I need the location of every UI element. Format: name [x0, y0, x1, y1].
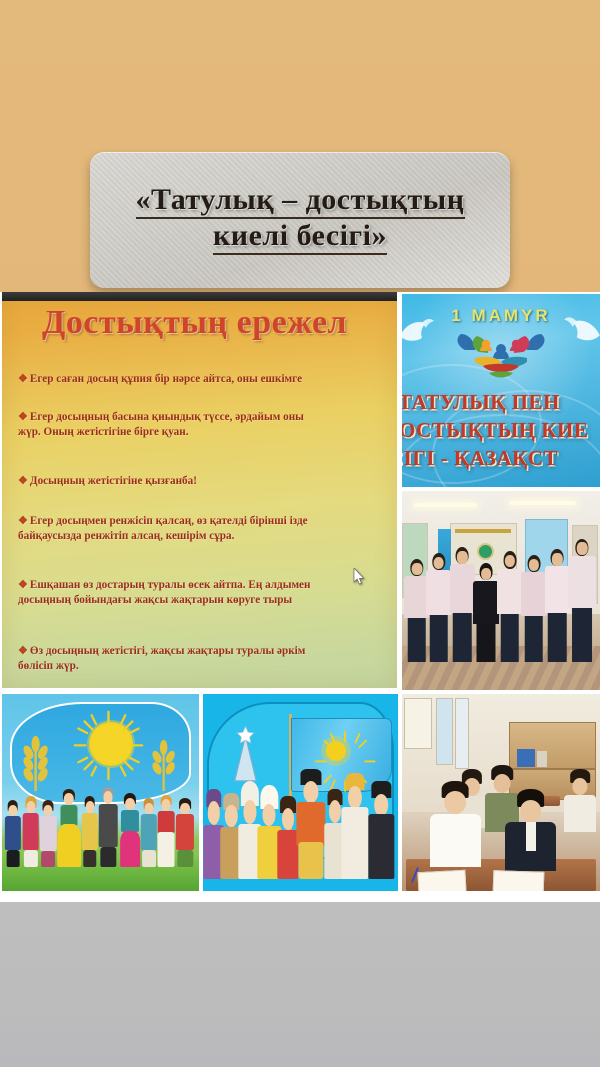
student-figure: [568, 539, 596, 662]
child-figure: [39, 800, 57, 867]
title-plaque: «Татулық – достықтың киелі бесігі»: [90, 152, 510, 288]
bullet-icon: ❖: [18, 579, 28, 591]
rule-text: Егер досыңның басына қиындық түссе, әрда…: [18, 411, 304, 438]
wall-poster: [455, 698, 469, 769]
student-figure: [497, 551, 523, 662]
bullet-icon: ❖: [18, 411, 28, 423]
rule-item: ❖Өз досыңның жетістігі, жақсы жақтары ту…: [18, 644, 397, 673]
student-figure: [564, 769, 596, 832]
person-figure: [277, 796, 298, 879]
notebook: [417, 870, 466, 891]
student-figure: [426, 553, 452, 662]
photo-collage: Достықтың ережел ❖Егер саған досың құпия…: [0, 292, 600, 895]
child-figure: [99, 787, 119, 868]
banner-line-1: ТАТУЛЫҚ ПЕН: [402, 390, 600, 415]
person-figure: [297, 769, 326, 879]
child-figure: [120, 793, 140, 868]
may-first-banner: 1 MAMYR ТАТУЛЫҚ ПЕН ДОСТЫҚТЫҢ КИЕ СІГІ -…: [402, 294, 600, 487]
stand-caption: [455, 529, 510, 533]
child-figure: [158, 795, 176, 868]
wall-poster: [436, 698, 454, 765]
banner-line-3: СІГІ - ҚАЗАҚСТ: [402, 446, 600, 471]
student-figure: [430, 781, 481, 868]
title-line-2: киелі бесігі»: [213, 220, 387, 252]
students-group-photo: [402, 491, 600, 690]
friendship-rules-poster: Достықтың ережел ❖Егер саған досың құпия…: [2, 292, 397, 688]
banner-line-2: ДОСТЫҚТЫҢ КИЕ: [402, 418, 600, 443]
child-figure: [4, 800, 22, 867]
ceiling-lamp: [414, 503, 477, 507]
title-text-secondary: киелі бесігі»: [213, 219, 387, 255]
mouse-pointer-icon: [353, 568, 365, 586]
ceiling-lamp: [509, 501, 576, 505]
bullet-icon: ❖: [18, 373, 28, 385]
rule-item: ❖Егер досыңмен ренжісіп қалсаң, өз қател…: [18, 514, 397, 543]
wall-poster: [404, 698, 432, 749]
title-line-1: «Татулық – достықтың: [136, 184, 465, 216]
rules-poster-title: Достықтың ережел: [42, 304, 347, 342]
binder: [517, 749, 535, 767]
child-figure: [140, 798, 158, 867]
bullet-icon: ❖: [18, 475, 28, 487]
rule-text: Ешқашан өз достарың туралы өсек айтпа. Е…: [18, 579, 310, 606]
sun-rays-icon: [73, 706, 144, 785]
banner-date-label: 1 MAMYR: [402, 306, 600, 326]
wheat-icon: [10, 729, 61, 796]
person-figure: [341, 773, 368, 879]
kids-nations-illustration: [2, 694, 199, 891]
notebook: [493, 870, 545, 891]
bullet-icon: ❖: [18, 515, 28, 527]
collage-bottom-edge: [0, 895, 600, 902]
child-figure: [57, 789, 81, 868]
student-figure: [505, 789, 556, 872]
nations-flag-illustration: [203, 694, 398, 891]
student-figure: [545, 549, 571, 662]
rule-item: ❖Егер саған досың құпия бір нәрсе айтса,…: [18, 372, 397, 387]
child-figure: [81, 796, 99, 867]
rule-text: Досыңның жетістігіне қызғанба!: [30, 475, 197, 487]
rule-text: Егер саған досың құпия бір нәрсе айтса, …: [30, 373, 302, 385]
unity-emblem-icon: [455, 332, 547, 384]
child-figure: [175, 798, 195, 867]
rule-item: ❖Досыңның жетістігіне қызғанба!: [18, 474, 397, 489]
box: [537, 751, 547, 767]
wheat-icon: [140, 733, 187, 796]
bottom-blank-panel: [0, 902, 600, 1067]
bullet-icon: ❖: [18, 645, 28, 657]
minaret-icon: [226, 726, 265, 785]
person-figure: [369, 781, 394, 880]
classroom-photo: [402, 694, 600, 891]
emblem-icon: [477, 543, 494, 560]
rule-text: Өз досыңның жетістігі, жақсы жақтары тур…: [18, 645, 305, 672]
rule-text: Егер досыңмен ренжісіп қалсаң, өз қателд…: [18, 515, 308, 542]
teacher-figure: [473, 563, 499, 663]
child-figure: [22, 796, 40, 867]
student-figure: [521, 555, 547, 662]
rule-item: ❖Ешқашан өз достарың туралы өсек айтпа. …: [18, 578, 397, 607]
rule-item: ❖Егер досыңның басына қиындық түссе, әрд…: [18, 410, 397, 439]
title-text-primary: «Татулық – достықтың: [136, 183, 465, 219]
student-figure: [450, 547, 476, 662]
